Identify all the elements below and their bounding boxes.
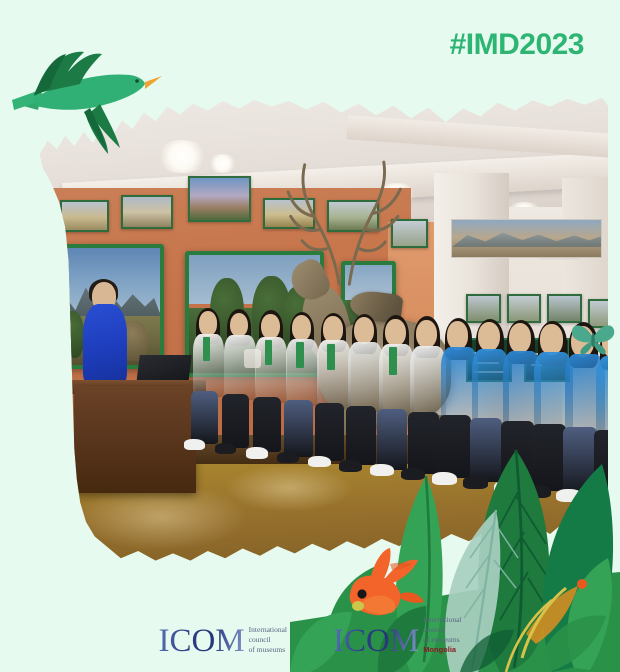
icom-mongolia-tagline: International council of museums Mongoli… [423,615,461,658]
icom-mongolia-logo[interactable]: ICOM International council of museums Mo… [333,615,462,658]
logo-row: ICOM International council of museums IC… [0,615,620,658]
icom-country-label: Mongolia [423,645,456,654]
poster-canvas: #IMD2023 [0,0,620,672]
icom-tagline: International council of museums [249,625,287,658]
icom-mongolia-tagline-line-2: council [423,625,445,634]
icom-mongolia-tagline-line-1: International [423,615,461,624]
icom-mongolia-wordmark: ICOM [333,625,419,658]
icom-logo[interactable]: ICOM International council of museums [158,625,287,658]
icom-mongolia-tagline-line-3: of museums [423,635,459,644]
icom-tagline-line-2: council [249,635,271,644]
butterfly-icon [570,316,616,356]
goldfish-icon [340,546,436,620]
icom-tagline-line-3: of museums [249,645,285,654]
icom-tagline-line-1: International [249,625,287,634]
flying-bird-icon [4,42,169,160]
icom-wordmark: ICOM [158,625,244,658]
hashtag-text: #IMD2023 [450,28,584,62]
